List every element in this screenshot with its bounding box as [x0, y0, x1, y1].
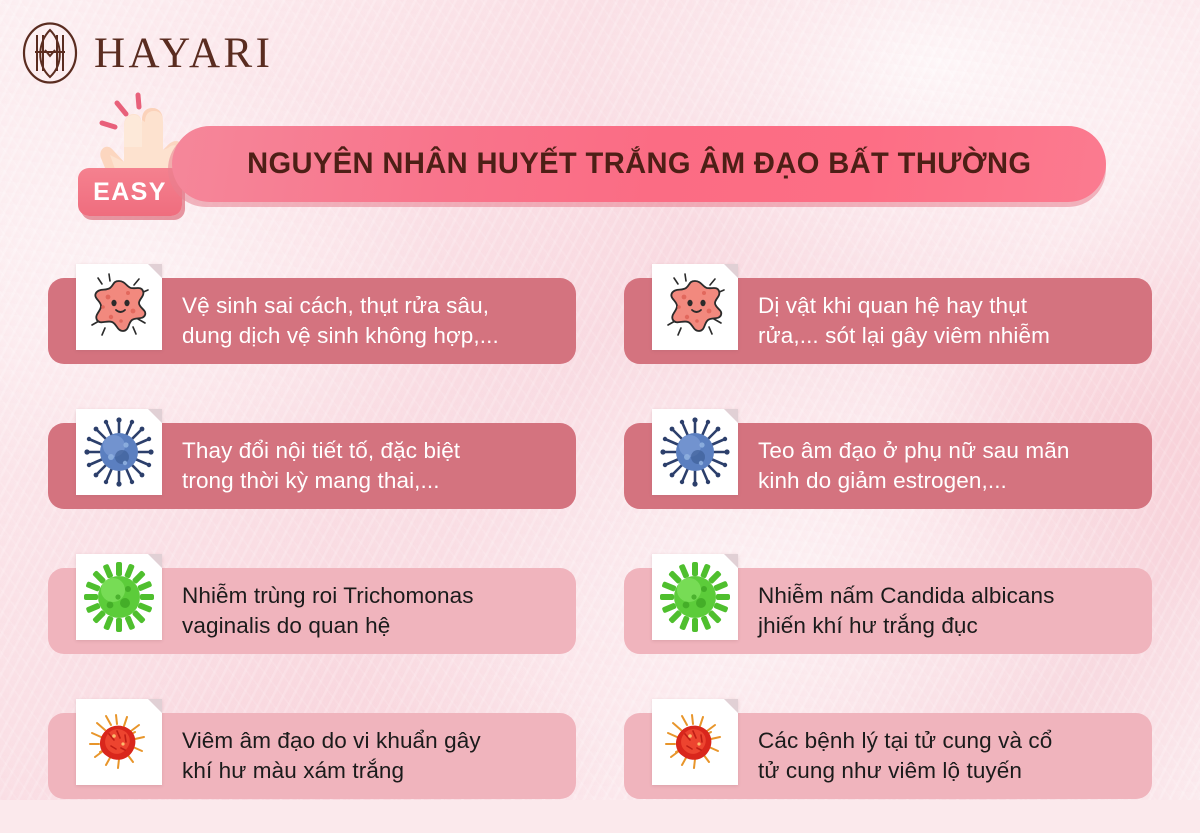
red-bacillus-icon — [652, 699, 738, 785]
cause-card-row2-right[interactable]: Teo âm đạo ở phụ nữ sau mãn kinh do giảm… — [624, 423, 1152, 509]
cause-card-grid: Vệ sinh sai cách, thụt rửa sâu, dung dịc… — [0, 258, 1200, 833]
cause-card-line: Thay đổi nội tiết tố, đặc biệt — [182, 436, 562, 466]
tile-fold-corner — [148, 264, 162, 278]
title-banner: NGUYÊN NHÂN HUYẾT TRẮNG ÂM ĐẠO BẤT THƯỜN… — [172, 126, 1106, 202]
blue-spiky-virus-icon — [76, 409, 162, 495]
tile-fold-corner — [148, 554, 162, 568]
cause-card-line: trong thời kỳ mang thai,... — [182, 466, 562, 496]
cause-card-row4-right[interactable]: Các bệnh lý tại tử cung và cổ tử cung nh… — [624, 713, 1152, 799]
cause-card-row1-right[interactable]: Dị vật khi quan hệ hay thụt rửa,... sót … — [624, 278, 1152, 364]
card-row: Vệ sinh sai cách, thụt rửa sâu, dung dịc… — [0, 258, 1200, 403]
cause-card-line: Nhiễm trùng roi Trichomonas — [182, 581, 562, 611]
green-virus-icon — [76, 554, 162, 640]
brand-logo: HAYARI — [22, 22, 274, 84]
cause-card-row3-left[interactable]: Nhiễm trùng roi Trichomonas vaginalis do… — [48, 568, 576, 654]
cause-card-line: dung dịch vệ sinh không hợp,... — [182, 321, 562, 351]
tile-fold-corner — [724, 699, 738, 713]
pink-amoeba-germ-icon — [76, 264, 162, 350]
cause-card-line: kinh do giảm estrogen,... — [758, 466, 1138, 496]
tile-fold-corner — [148, 409, 162, 423]
tile-fold-corner — [724, 554, 738, 568]
cause-card-line: tử cung như viêm lộ tuyến — [758, 756, 1138, 786]
card-row: Viêm âm đạo do vi khuẩn gây khí hư màu x… — [0, 693, 1200, 833]
red-bacillus-icon — [76, 699, 162, 785]
cause-card-line: khí hư màu xám trắng — [182, 756, 562, 786]
cause-card-row3-right[interactable]: Nhiễm nấm Candida albicans jhiến khí hư … — [624, 568, 1152, 654]
cause-card-line: vaginalis do quan hệ — [182, 611, 562, 641]
tile-fold-corner — [724, 264, 738, 278]
cause-card-line: rửa,... sót lại gây viêm nhiễm — [758, 321, 1138, 351]
easy-badge[interactable]: EASY — [78, 168, 182, 216]
cause-card-line: jhiến khí hư trắng đục — [758, 611, 1138, 641]
hayari-monogram-icon — [22, 22, 78, 84]
cause-card-row2-left[interactable]: Thay đổi nội tiết tố, đặc biệt trong thờ… — [48, 423, 576, 509]
pink-amoeba-germ-icon — [652, 264, 738, 350]
blue-spiky-virus-icon — [652, 409, 738, 495]
card-row: Nhiễm trùng roi Trichomonas vaginalis do… — [0, 548, 1200, 693]
card-row: Thay đổi nội tiết tố, đặc biệt trong thờ… — [0, 403, 1200, 548]
brand-name: HAYARI — [94, 32, 274, 75]
tile-fold-corner — [148, 699, 162, 713]
infographic-page: HAYARI EASY NGUYÊN NHÂN HUYẾT TRẮNG ÂM Đ… — [0, 0, 1200, 800]
cause-card-line: Nhiễm nấm Candida albicans — [758, 581, 1138, 611]
cause-card-row4-left[interactable]: Viêm âm đạo do vi khuẩn gây khí hư màu x… — [48, 713, 576, 799]
cause-card-row1-left[interactable]: Vệ sinh sai cách, thụt rửa sâu, dung dịc… — [48, 278, 576, 364]
cause-card-line: Dị vật khi quan hệ hay thụt — [758, 291, 1138, 321]
cause-card-line: Các bệnh lý tại tử cung và cổ — [758, 726, 1138, 756]
cause-card-line: Teo âm đạo ở phụ nữ sau mãn — [758, 436, 1138, 466]
green-virus-icon — [652, 554, 738, 640]
cause-card-line: Viêm âm đạo do vi khuẩn gây — [182, 726, 562, 756]
easy-badge-label: EASY — [93, 178, 167, 207]
cause-card-line: Vệ sinh sai cách, thụt rửa sâu, — [182, 291, 562, 321]
tile-fold-corner — [724, 409, 738, 423]
page-title: NGUYÊN NHÂN HUYẾT TRẮNG ÂM ĐẠO BẤT THƯỜN… — [247, 147, 1031, 181]
